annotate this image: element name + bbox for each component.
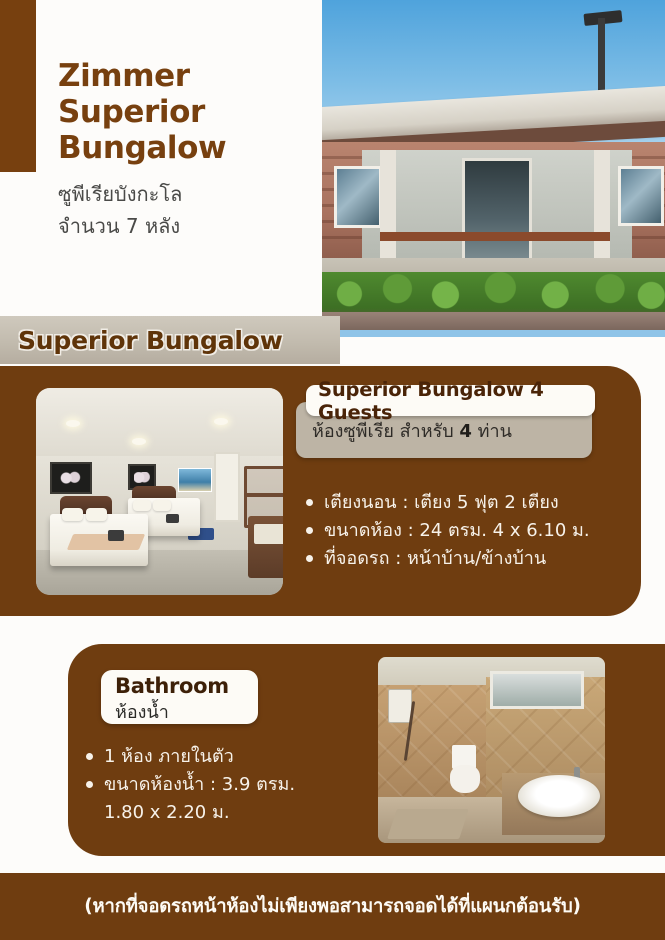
list-item: ขนาดห้อง : 24 ตรม. 4 x 6.10 ม. (306, 518, 606, 544)
header-section: Zimmer Superior Bungalow ซูพีเรียบังกะโล… (0, 0, 665, 365)
superior-title-badge: Superior Bungalow 4 Guests (306, 385, 595, 416)
bathroom-feature-list: 1 ห้อง ภายในตัว ขนาดห้องน้ำ : 3.9 ตรม. 1… (86, 744, 386, 828)
bullet-dot-icon (86, 781, 93, 788)
list-item-label: ขนาดห้องน้ำ : 3.9 ตรม. (104, 772, 295, 798)
superior-feature-list: เตียงนอน : เตียง 5 ฟุต 2 เตียง ขนาดห้อง … (306, 490, 606, 574)
pillow-2b (153, 500, 171, 511)
subtitle-suffix: ท่าน (472, 421, 512, 442)
list-item-label: ที่จอดรถ : หน้าบ้าน/ข้างบ้าน (324, 546, 546, 572)
list-item-label: 1 ห้อง ภายในตัว (104, 744, 234, 770)
bathroom-window (490, 671, 584, 709)
list-item-label: ขนาดห้อง : 24 ตรม. 4 x 6.10 ม. (324, 518, 590, 544)
list-item: ที่จอดรถ : หน้าบ้าน/ข้างบ้าน (306, 546, 606, 572)
sink-basin (518, 775, 600, 817)
superior-bungalow-card: ห้องซูพีเรีย สำหรับ 4 ท่าน Superior Bung… (0, 366, 641, 616)
bed-towel-1 (108, 530, 124, 541)
bathroom-interior-photo (378, 657, 605, 843)
bedroom-interior-photo (36, 388, 283, 595)
left-accent-bar (0, 0, 36, 172)
window-left (334, 166, 382, 228)
pillow-1b (86, 508, 107, 521)
bathroom-badge-label-th: ห้องน้ำ (115, 697, 169, 726)
superior-bungalow-banner: Superior Bungalow (0, 316, 340, 364)
subtitle-line-1: ซูพีเรียบังกะโล (58, 178, 318, 210)
bathroom-title-badge: Bathroom ห้องน้ำ (101, 670, 258, 724)
side-chair (248, 516, 283, 578)
title-line-2: Superior (58, 94, 318, 130)
subtitle-line-2: จำนวน 7 หลัง (58, 210, 318, 242)
superior-badge-label: Superior Bungalow 4 Guests (318, 378, 595, 424)
list-item: เตียงนอน : เตียง 5 ฟุต 2 เตียง (306, 490, 606, 516)
title-line-1: Zimmer (58, 58, 318, 94)
ceiling-light-1 (66, 420, 80, 427)
ceiling-light-3 (214, 418, 228, 425)
water-heater (388, 689, 412, 723)
list-item: ขนาดห้องน้ำ : 3.9 ตรม. (86, 772, 386, 798)
wall-art-3 (178, 468, 212, 492)
window-right (618, 166, 664, 226)
toilet-bowl (450, 765, 480, 793)
bathroom-card: Bathroom ห้องน้ำ 1 ห้อง ภายในตัว ขนาดห้อ… (68, 644, 665, 856)
wall-art-1 (50, 462, 92, 494)
porch-column-left (380, 150, 396, 260)
pillow-2a (133, 500, 151, 511)
subtitle-prefix: ห้องซูพีเรีย สำหรับ (312, 421, 459, 442)
door-frame (214, 452, 240, 522)
entry-door (462, 158, 532, 262)
banner-label: Superior Bungalow (18, 326, 283, 355)
bullet-dot-icon (306, 499, 313, 506)
footer-note: (หากที่จอดรถหน้าห้องไม่เพียงพอสามารถจอดไ… (84, 892, 581, 921)
list-item-label: เตียงนอน : เตียง 5 ฟุต 2 เตียง (324, 490, 559, 516)
list-item-label: 1.80 x 2.20 ม. (104, 800, 230, 826)
bullet-dot-icon (86, 753, 93, 760)
floor-mat (387, 809, 469, 839)
guest-count: 4 (459, 421, 472, 442)
pillow-1a (62, 508, 83, 521)
ceiling-light-2 (132, 438, 146, 445)
bathroom-badge-label-en: Bathroom (115, 674, 229, 698)
bungalow-exterior-photo (322, 0, 665, 337)
footer-band: (หากที่จอดรถหน้าห้องไม่เพียงพอสามารถจอดไ… (0, 873, 665, 940)
bullet-dot-icon (306, 527, 313, 534)
porch-column-right (594, 150, 610, 260)
bullet-dot-icon (306, 555, 313, 562)
list-item: 1 ห้อง ภายในตัว (86, 744, 386, 770)
porch-rail (380, 232, 610, 241)
page-title: Zimmer Superior Bungalow ซูพีเรียบังกะโล… (58, 58, 318, 242)
page-subtitle: ซูพีเรียบังกะโล จำนวน 7 หลัง (58, 178, 318, 242)
title-line-3: Bungalow (58, 130, 318, 166)
bed-runner-1 (67, 534, 145, 550)
bed-towel-2 (166, 514, 179, 523)
planter-box (322, 312, 665, 330)
list-item-continuation: 1.80 x 2.20 ม. (86, 800, 386, 826)
bullet-spacer (86, 809, 93, 816)
